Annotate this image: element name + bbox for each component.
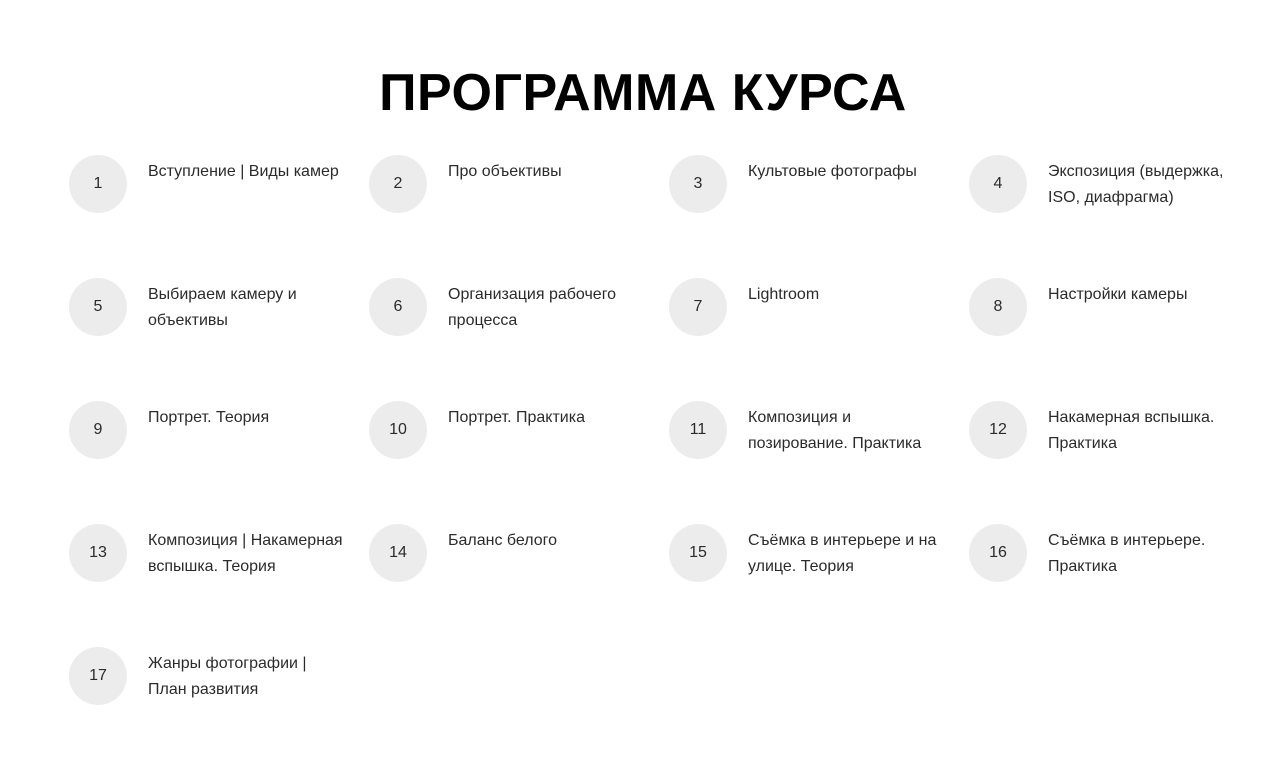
item-label: Жанры фотографии | План развития	[148, 647, 348, 702]
program-item-3[interactable]: 3 Культовые фотографы	[669, 155, 969, 278]
program-item-4[interactable]: 4 Экспозиция (выдержка, ISO, диафрагма)	[969, 155, 1269, 278]
item-label: Съёмка в интерьере и на улице. Теория	[748, 524, 948, 579]
item-number-badge: 14	[369, 524, 427, 582]
program-item-5[interactable]: 5 Выбираем камеру и объективы	[69, 278, 369, 401]
program-item-2[interactable]: 2 Про объективы	[369, 155, 669, 278]
item-number-badge: 16	[969, 524, 1027, 582]
item-label: Композиция и позирование. Практика	[748, 401, 948, 456]
item-label: Портрет. Практика	[448, 401, 648, 431]
item-number-badge: 3	[669, 155, 727, 213]
program-item-1[interactable]: 1 Вступление | Виды камер	[69, 155, 369, 278]
item-label: Настройки камеры	[1048, 278, 1248, 308]
item-label: Культовые фотографы	[748, 155, 948, 185]
item-number-badge: 4	[969, 155, 1027, 213]
item-number-badge: 2	[369, 155, 427, 213]
item-number-badge: 17	[69, 647, 127, 705]
program-item-9[interactable]: 9 Портрет. Теория	[69, 401, 369, 524]
item-label: Композиция | Накамерная вспышка. Теория	[148, 524, 348, 579]
page-title: ПРОГРАММА КУРСА	[0, 61, 1286, 125]
program-items-grid: 1 Вступление | Виды камер 2 Про объектив…	[69, 155, 1269, 770]
item-label: Lightroom	[748, 278, 948, 308]
item-label: Организация рабочего процесса	[448, 278, 648, 333]
program-item-13[interactable]: 13 Композиция | Накамерная вспышка. Теор…	[69, 524, 369, 647]
item-label: Накамерная вспышка. Практика	[1048, 401, 1248, 456]
program-item-7[interactable]: 7 Lightroom	[669, 278, 969, 401]
program-item-15[interactable]: 15 Съёмка в интерьере и на улице. Теория	[669, 524, 969, 647]
program-item-11[interactable]: 11 Композиция и позирование. Практика	[669, 401, 969, 524]
item-number-badge: 9	[69, 401, 127, 459]
item-label: Вступление | Виды камер	[148, 155, 348, 185]
program-item-8[interactable]: 8 Настройки камеры	[969, 278, 1269, 401]
item-number-badge: 15	[669, 524, 727, 582]
item-number-badge: 11	[669, 401, 727, 459]
item-number-badge: 13	[69, 524, 127, 582]
program-item-6[interactable]: 6 Организация рабочего процесса	[369, 278, 669, 401]
program-item-12[interactable]: 12 Накамерная вспышка. Практика	[969, 401, 1269, 524]
item-number-badge: 10	[369, 401, 427, 459]
item-label: Экспозиция (выдержка, ISO, диафрагма)	[1048, 155, 1248, 210]
program-item-17[interactable]: 17 Жанры фотографии | План развития	[69, 647, 369, 770]
item-number-badge: 12	[969, 401, 1027, 459]
item-label: Портрет. Теория	[148, 401, 348, 431]
item-label: Баланс белого	[448, 524, 648, 554]
item-number-badge: 8	[969, 278, 1027, 336]
program-item-16[interactable]: 16 Съёмка в интерьере. Практика	[969, 524, 1269, 647]
item-number-badge: 1	[69, 155, 127, 213]
item-number-badge: 6	[369, 278, 427, 336]
program-item-10[interactable]: 10 Портрет. Практика	[369, 401, 669, 524]
item-label: Выбираем камеру и объективы	[148, 278, 348, 333]
item-label: Про объективы	[448, 155, 648, 185]
item-number-badge: 7	[669, 278, 727, 336]
item-number-badge: 5	[69, 278, 127, 336]
item-label: Съёмка в интерьере. Практика	[1048, 524, 1248, 579]
program-item-14[interactable]: 14 Баланс белого	[369, 524, 669, 647]
course-program-page: ПРОГРАММА КУРСА 1 Вступление | Виды каме…	[0, 0, 1286, 734]
